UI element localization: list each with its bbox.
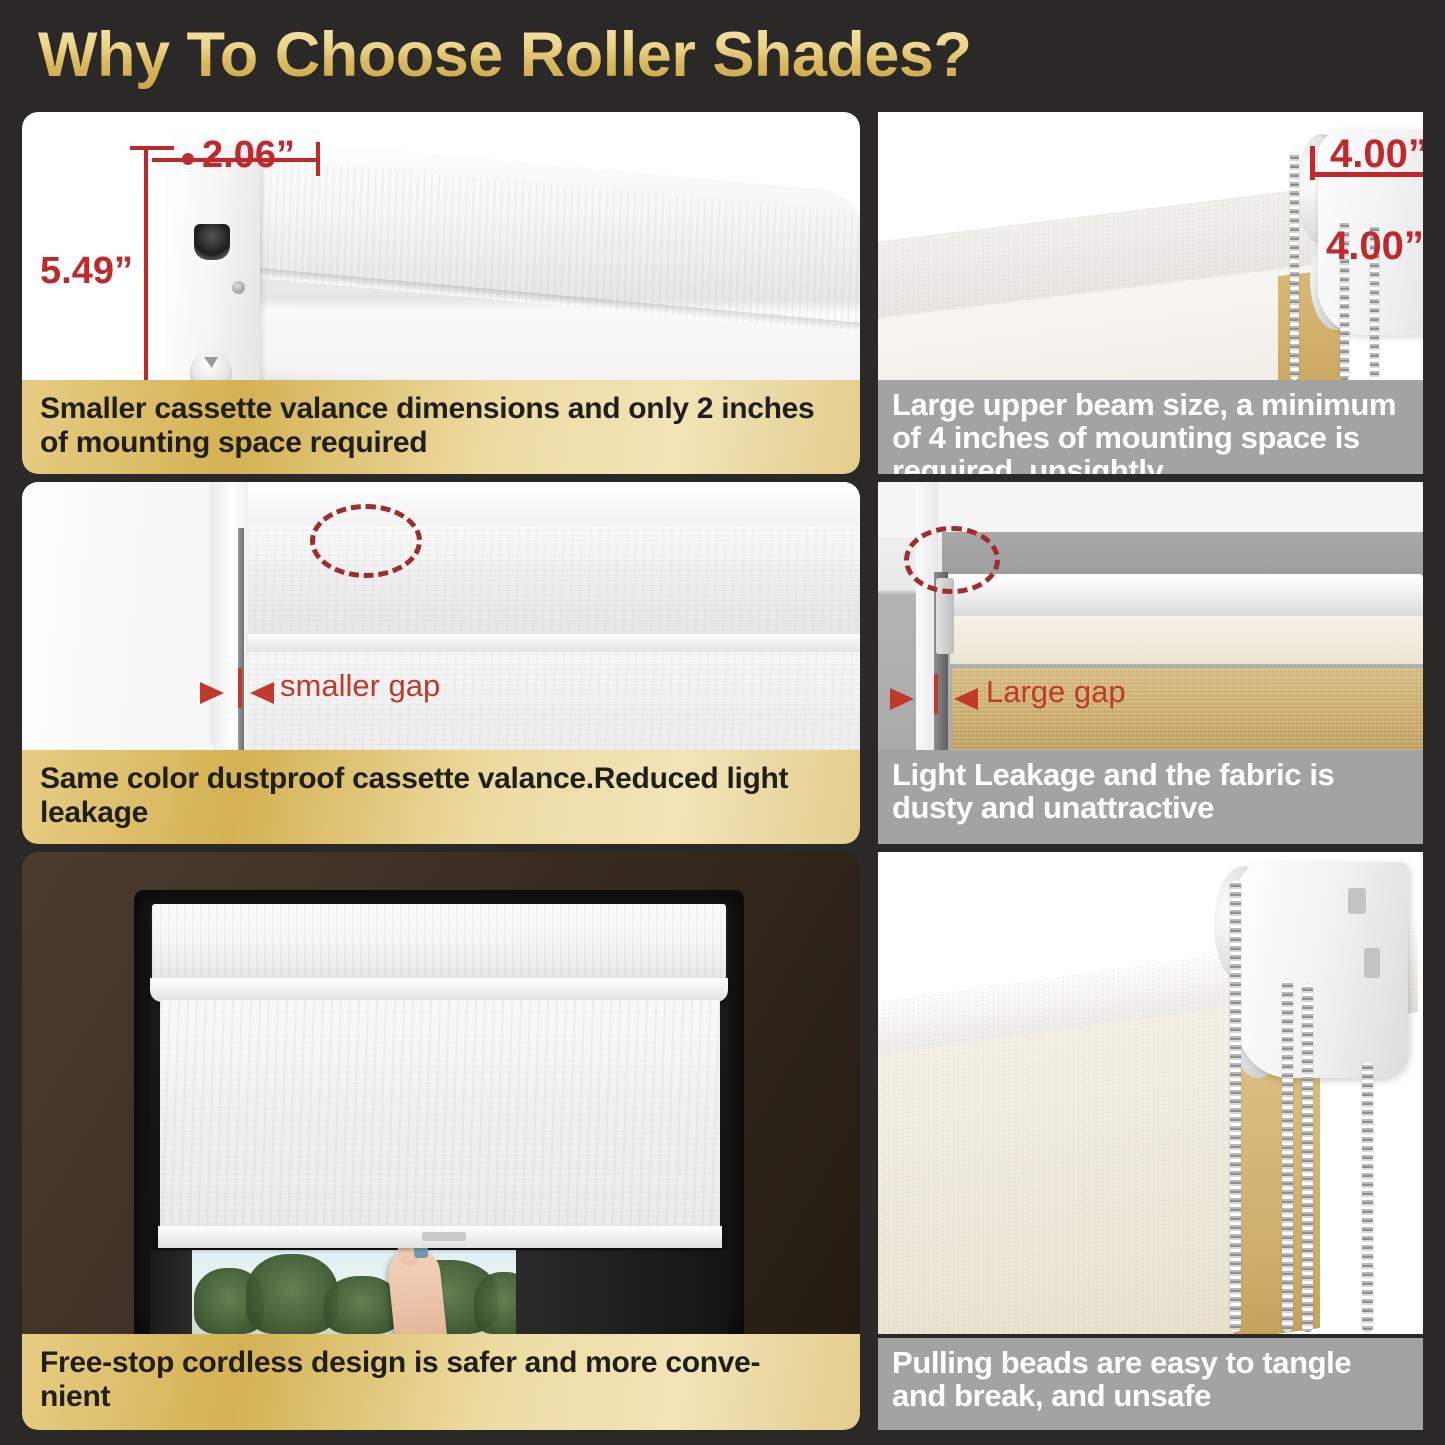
panel-pulling-beads-photo [878,852,1423,1334]
bracket-screw [232,281,245,294]
beam-width-tick-left [1310,146,1315,180]
large-gap-label: Large gap [986,674,1126,710]
smaller-gap-label: smaller gap [280,668,440,704]
gap-arrow-right [250,682,274,704]
roller-tube [944,574,1423,620]
bead-chain-right [1362,1062,1373,1332]
beaded-chain-bracket [1238,862,1408,1078]
bead-chain-left [1230,880,1241,1332]
panel-large-upper-beam: 4.00” 4.00” Large upper beam size, a min… [878,112,1423,474]
cassette-valance-illustration: 5.49” 2.06” [22,112,860,380]
width-dimension-tick-right [316,142,320,176]
shadow-band [942,532,1423,580]
height-dimension-line [144,148,148,380]
infographic-page: Why To Choose Roller Shades? [0,0,1445,1445]
beam-height-dimension-label: 4.00” [1326,224,1423,269]
valance-end-bracket [168,146,260,380]
caption-line-2: nient [40,1380,110,1413]
panel-cassette-valance-photo: 5.49” 2.06” [22,112,860,380]
window-head-casing [210,482,860,528]
window-frame-right [516,1250,728,1334]
bottom-rail-tab [422,1232,466,1241]
window-frame-left [150,1250,192,1334]
height-dimension-label: 5.49” [40,250,133,293]
seam-highlight-ellipse [904,526,1000,594]
bracket-slot [194,224,230,260]
panel-large-gap-caption: Light Leakage and the fabric is dusty an… [878,750,1423,844]
outdoor-view [188,1250,518,1334]
beam-width-dimension-label: 4.00” [1330,132,1423,177]
gap-arrow-left [890,688,914,710]
shade-fabric [160,1000,720,1232]
bracket-tab-lower [1364,948,1380,978]
gap-arrow-right [954,688,978,710]
panel-smaller-gap-photo: smaller gap [22,482,860,750]
panel-cassette-valance: 5.49” 2.06” Smaller cassette valance dim… [22,112,860,474]
caption-text: Large upper beam size, a minimum of 4 in… [892,389,1409,474]
panel-large-upper-beam-caption: Large upper beam size, a minimum of 4 in… [878,380,1423,474]
bead-chain-middle [1282,980,1293,1332]
panel-large-gap-photo: Large gap [878,482,1423,750]
tree-foliage [474,1272,518,1334]
page-title: Why To Choose Roller Shades? [38,19,971,91]
caption-text: Smaller cassette valance dimensions and … [40,392,842,459]
bead-chain-left [1290,152,1299,380]
bracket-tab-upper [1348,888,1366,914]
height-dimension-tick-top [130,146,174,150]
panel-cassette-valance-caption: Smaller cassette valance dimensions and … [22,380,860,474]
small-gap-strip [238,528,244,750]
panel-large-upper-beam-photo: 4.00” 4.00” [878,112,1423,380]
caption-text: Light Leakage and the fabric is dusty an… [892,759,1409,825]
panel-cordless-design-photo [22,852,860,1334]
header-bar: Why To Choose Roller Shades? [0,0,1445,110]
panel-smaller-gap: smaller gap Same color dustproof cassett… [22,482,860,844]
cassette-front-lip [150,978,728,1002]
panel-smaller-gap-caption: Same color dustproof cassette valance.Re… [22,750,860,844]
cream-fabric-band [950,616,1423,664]
panel-large-gap: Large gap Light Leakage and the fabric i… [878,482,1423,844]
cream-shade-fabric [878,1002,1258,1334]
panel-cordless-design-caption: Free-stop cordless design is safer and m… [22,1334,860,1430]
shade-middle-rail [248,634,860,652]
bracket-knob [190,351,232,380]
panel-pulling-beads-caption: Pulling beads are easy to tangle and bre… [878,1338,1423,1430]
panel-pulling-beads: Pulling beads are easy to tangle and bre… [878,852,1423,1430]
panel-cordless-design: Free-stop cordless design is safer and m… [22,852,860,1430]
comparison-grid: 5.49” 2.06” Smaller cassette valance dim… [22,112,1423,1432]
caption-text: Free-stop cordless design is safer and m… [40,1346,760,1413]
gap-tick-mark [238,668,242,708]
gap-arrow-left [200,682,224,704]
caption-text: Same color dustproof cassette valance.Re… [40,762,842,829]
caption-line-1: Free-stop cordless design is safer and m… [40,1346,760,1379]
bead-chain-middle-2 [1302,984,1313,1332]
seam-highlight-ellipse [310,504,422,578]
caption-text: Pulling beads are easy to tangle and bre… [892,1347,1409,1413]
gap-tick-mark [934,674,938,714]
width-dimension-label: 2.06” [202,134,295,177]
